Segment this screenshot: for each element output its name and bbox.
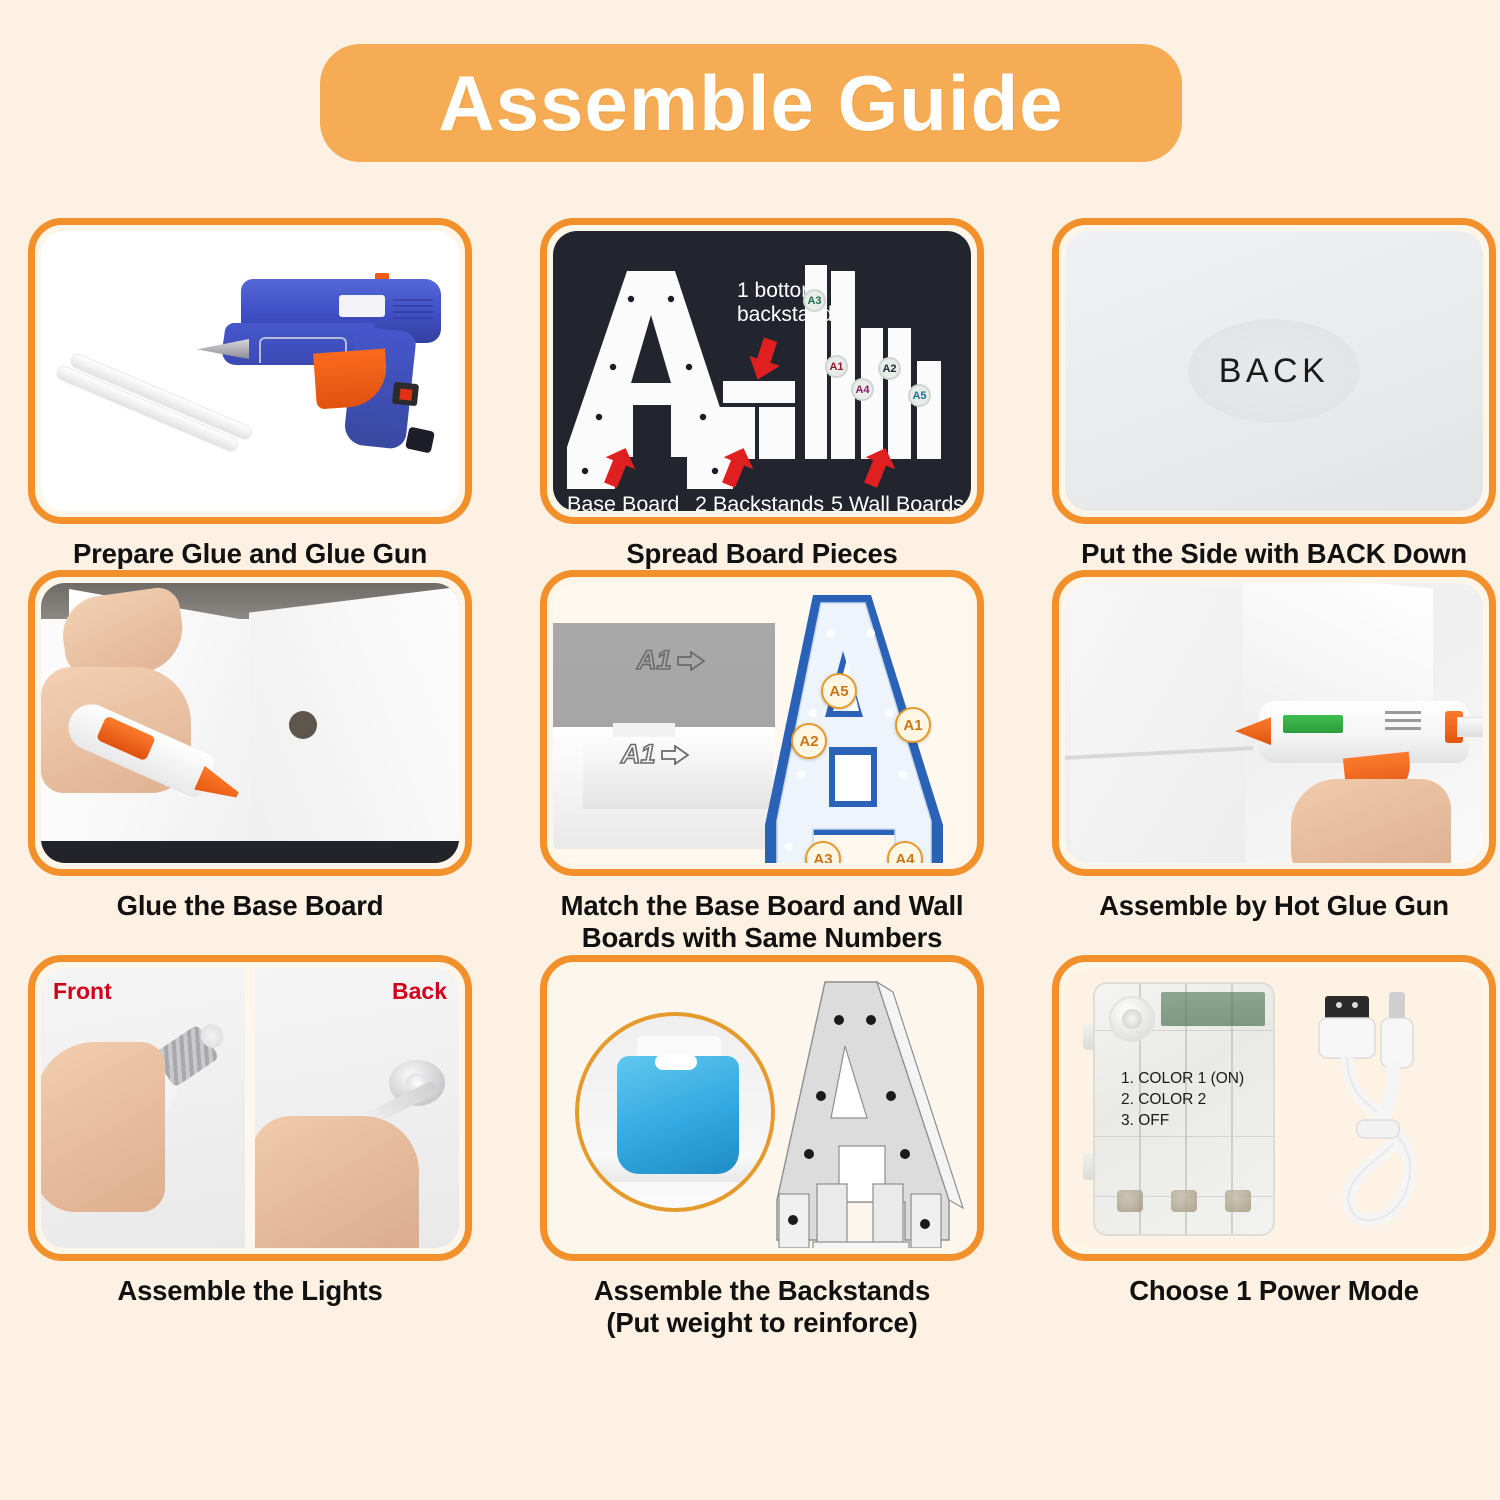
caption-line: Assemble by Hot Glue Gun	[1052, 890, 1496, 922]
step-card-9: 1. COLOR 1 (ON) 2. COLOR 2 3. OFF	[1052, 955, 1496, 1339]
power-mode-list: 1. COLOR 1 (ON) 2. COLOR 2 3. OFF	[1121, 1068, 1244, 1132]
front-label: Front	[53, 978, 112, 1005]
step-card-4: Glue the Base Board	[28, 570, 472, 954]
hand-icon	[41, 1042, 165, 1212]
arrow-up-icon	[863, 447, 897, 489]
step-card-5: A1 A1	[540, 570, 984, 954]
back-label: Back	[392, 978, 447, 1005]
glue-gun-image	[41, 231, 459, 511]
mode-1: 1. COLOR 1 (ON)	[1121, 1068, 1244, 1089]
arrow-up-icon	[603, 447, 637, 489]
caption-line: Spread Board Pieces	[540, 538, 984, 570]
tag-a2: A2	[878, 357, 901, 380]
arrow-down-icon	[749, 337, 789, 383]
step-7-panel: Front Back	[28, 955, 472, 1261]
letter-a-with-backstands	[759, 978, 967, 1248]
hot-glue-gun-icon	[1235, 695, 1483, 791]
water-weight-bag-icon	[617, 1056, 739, 1174]
step-1-panel	[28, 218, 472, 524]
step-6-panel	[1052, 570, 1496, 876]
backstand-piece	[759, 407, 795, 459]
step-4-panel	[28, 570, 472, 876]
power-modes-image: 1. COLOR 1 (ON) 2. COLOR 2 3. OFF	[1065, 968, 1483, 1248]
tag-a1: A1	[895, 707, 931, 743]
step-3-panel: BACK	[1052, 218, 1496, 524]
engraved-mark-a1: A1	[637, 645, 705, 676]
hand-icon	[255, 1116, 419, 1248]
back-view: Back	[255, 968, 459, 1248]
engraved-mark-a1: A1	[621, 739, 689, 770]
step-card-8: Assemble the Backstands (Put weight to r…	[540, 955, 984, 1339]
step-9-caption: Choose 1 Power Mode	[1052, 1275, 1496, 1307]
match-numbers-image: A1 A1	[553, 583, 971, 863]
step-3-caption: Put the Side with BACK Down	[1052, 538, 1496, 570]
label-2-backstands: 2 Backstands	[695, 492, 824, 511]
backstands-weight-image	[553, 968, 971, 1248]
tag-a1: A1	[825, 355, 848, 378]
glue-gun-icon	[197, 271, 459, 456]
caption-line: Boards with Same Numbers	[540, 922, 984, 954]
step-6-caption: Assemble by Hot Glue Gun	[1052, 890, 1496, 922]
step-card-2: 1 bottom backstand	[540, 218, 984, 570]
step-card-7: Front Back Assemble the Lights	[28, 955, 472, 1339]
back-word-label: BACK	[1219, 352, 1330, 391]
tag-a3: A3	[803, 289, 826, 312]
battery-box: 1. COLOR 1 (ON) 2. COLOR 2 3. OFF	[1093, 982, 1275, 1236]
caption-line: Put the Side with BACK Down	[1052, 538, 1496, 570]
light-hole	[289, 711, 317, 739]
page-title-banner: Assemble Guide	[320, 44, 1182, 162]
tag-a4: A4	[851, 378, 874, 401]
label-base-board: Base Board	[567, 492, 679, 511]
assembled-letter-a: A5 A1 A2 A3 A4	[743, 589, 965, 863]
step-2-panel: 1 bottom backstand	[540, 218, 984, 524]
caption-line: Match the Base Board and Wall	[540, 890, 984, 922]
tag-a5: A5	[908, 384, 931, 407]
lights-front-back-image: Front Back	[41, 968, 459, 1248]
step-card-6: Assemble by Hot Glue Gun	[1052, 570, 1496, 954]
mode-2: 2. COLOR 2	[1121, 1089, 1244, 1110]
glue-base-board-photo	[41, 583, 459, 863]
front-view: Front	[41, 968, 245, 1248]
step-card-3: BACK Put the Side with BACK Down	[1052, 218, 1496, 570]
tag-a2: A2	[791, 723, 827, 759]
arrow-right-icon	[677, 651, 705, 671]
step-card-1: Prepare Glue and Glue Gun	[28, 218, 472, 570]
step-7-caption: Assemble the Lights	[28, 1275, 472, 1307]
board-pieces-diagram: 1 bottom backstand	[553, 231, 971, 511]
step-8-panel	[540, 955, 984, 1261]
hand-icon	[1291, 779, 1451, 863]
arrow-right-icon	[661, 745, 689, 765]
back-board-image: BACK	[1065, 231, 1483, 511]
step-8-caption: Assemble the Backstands (Put weight to r…	[540, 1275, 984, 1339]
step-1-caption: Prepare Glue and Glue Gun	[28, 538, 472, 570]
base-board-letter-a	[567, 271, 733, 489]
mode-3: 3. OFF	[1121, 1110, 1244, 1131]
base-board	[249, 586, 459, 864]
caption-line: (Put weight to reinforce)	[540, 1307, 984, 1339]
page-title: Assemble Guide	[438, 58, 1063, 149]
step-9-panel: 1. COLOR 1 (ON) 2. COLOR 2 3. OFF	[1052, 955, 1496, 1261]
step-5-panel: A1 A1	[540, 570, 984, 876]
steps-grid: Prepare Glue and Glue Gun	[28, 218, 1480, 1339]
caption-line: Glue the Base Board	[28, 890, 472, 922]
step-5-caption: Match the Base Board and Wall Boards wit…	[540, 890, 984, 954]
power-button-icon[interactable]	[1109, 996, 1155, 1042]
hot-glue-gun-photo	[1065, 583, 1483, 863]
step-2-caption: Spread Board Pieces	[540, 538, 984, 570]
arrow-up-icon	[721, 447, 755, 489]
wall-board-a5	[917, 361, 941, 459]
usb-cable-icon	[1297, 978, 1477, 1248]
caption-line: Assemble the Lights	[28, 1275, 472, 1307]
caption-line: Assemble the Backstands	[540, 1275, 984, 1307]
step-4-caption: Glue the Base Board	[28, 890, 472, 922]
backstand-piece	[723, 381, 795, 403]
caption-line: Prepare Glue and Glue Gun	[28, 538, 472, 570]
label-5-wall-boards: 5 Wall Boards	[831, 492, 964, 511]
weight-bag-closeup	[575, 1012, 775, 1212]
tag-a5: A5	[821, 673, 857, 709]
caption-line: Choose 1 Power Mode	[1052, 1275, 1496, 1307]
